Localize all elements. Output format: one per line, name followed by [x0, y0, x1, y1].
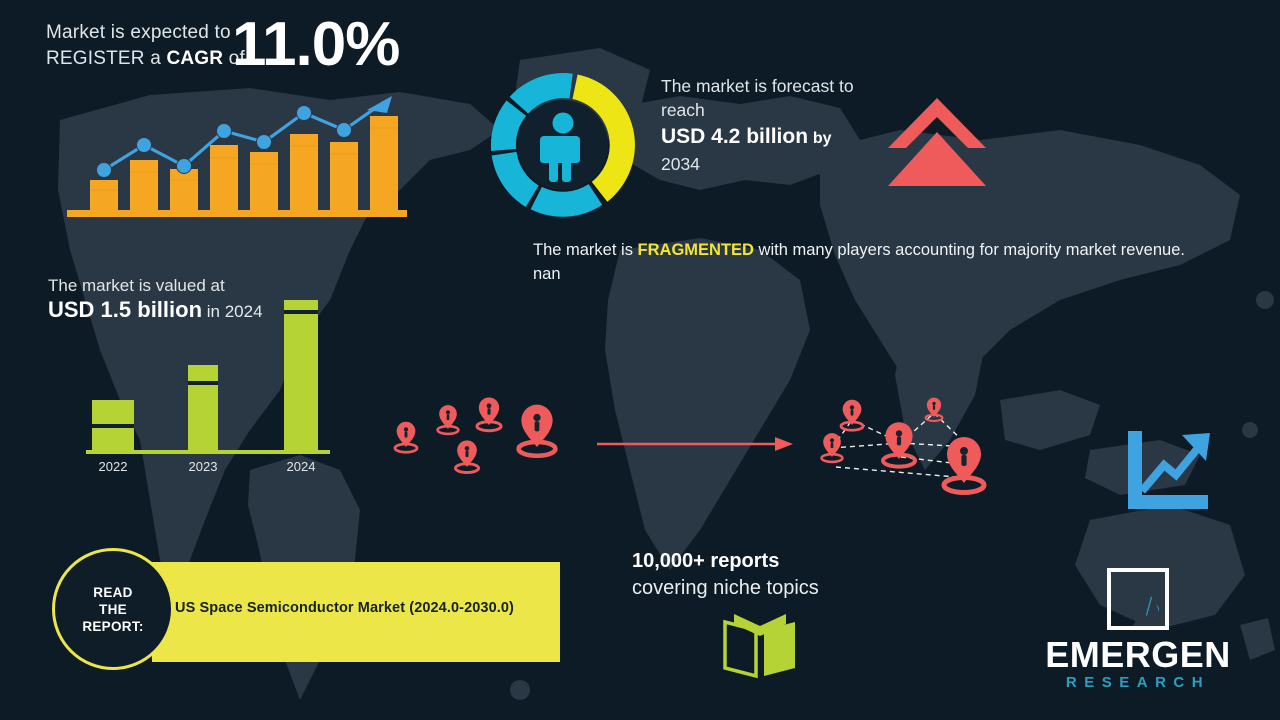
- reports-count-caption: 10,000+ reports covering niche topics: [632, 548, 932, 602]
- cagr-line2-bold: CAGR: [166, 48, 223, 69]
- cagr-value: 11.0%: [232, 14, 399, 76]
- logo-mark-icon: [1107, 568, 1169, 630]
- infographic-canvas: Market is expected to REGISTER a CAGR of…: [0, 0, 1280, 720]
- map-pins-connected-network: [806, 385, 1016, 500]
- report-title[interactable]: US Space Semiconductor Market (2024.0-20…: [175, 600, 545, 616]
- forecast-line2: reach: [661, 100, 705, 120]
- map-pins-scattered: [382, 385, 582, 495]
- forecast-by: by: [813, 130, 832, 147]
- market-share-donut: [463, 50, 663, 240]
- badge-line-1: READ: [93, 585, 132, 600]
- open-book-icon: [720, 610, 800, 680]
- forecast-value: USD 4.2 billion: [661, 125, 808, 148]
- forecast-line1: The market is forecast to: [661, 76, 854, 96]
- forecast-year: 2034: [661, 154, 700, 174]
- logo-wordmark: EMERGEN: [1013, 634, 1263, 676]
- cagr-line2-pre: REGISTER a: [46, 48, 166, 69]
- bar-label-2022: 2022: [99, 459, 128, 474]
- badge-line-3: REPORT:: [82, 619, 143, 634]
- market-value-bar-chart: 2022 2023 2024: [80, 295, 340, 475]
- reports-count: 10,000+ reports: [632, 550, 779, 572]
- bar-label-2023: 2023: [189, 459, 218, 474]
- right-arrow-icon: [597, 434, 797, 454]
- valuation-label: The market is valued at: [48, 276, 225, 295]
- reports-subline: covering niche topics: [632, 577, 819, 599]
- emergen-research-logo: EMERGEN RESEARCH: [1013, 568, 1263, 708]
- growth-chart-icon: [1118, 425, 1218, 520]
- double-chevron-up-icon: [882, 90, 992, 190]
- growth-trend-bar-chart: [62, 80, 422, 230]
- forecast-caption: The market is forecast to reach USD 4.2 …: [661, 74, 886, 176]
- read-report-badge[interactable]: READ THE REPORT:: [52, 548, 174, 670]
- cagr-line1: Market is expected to: [46, 22, 231, 43]
- fragmentation-pre: The market is: [533, 241, 638, 259]
- bar-label-2024: 2024: [287, 459, 316, 474]
- fragmentation-highlight: FRAGMENTED: [638, 241, 754, 259]
- logo-subtext: RESEARCH: [1013, 674, 1263, 691]
- fragmentation-statement: The market is FRAGMENTED with many playe…: [533, 238, 1205, 286]
- badge-line-2: THE: [99, 602, 127, 617]
